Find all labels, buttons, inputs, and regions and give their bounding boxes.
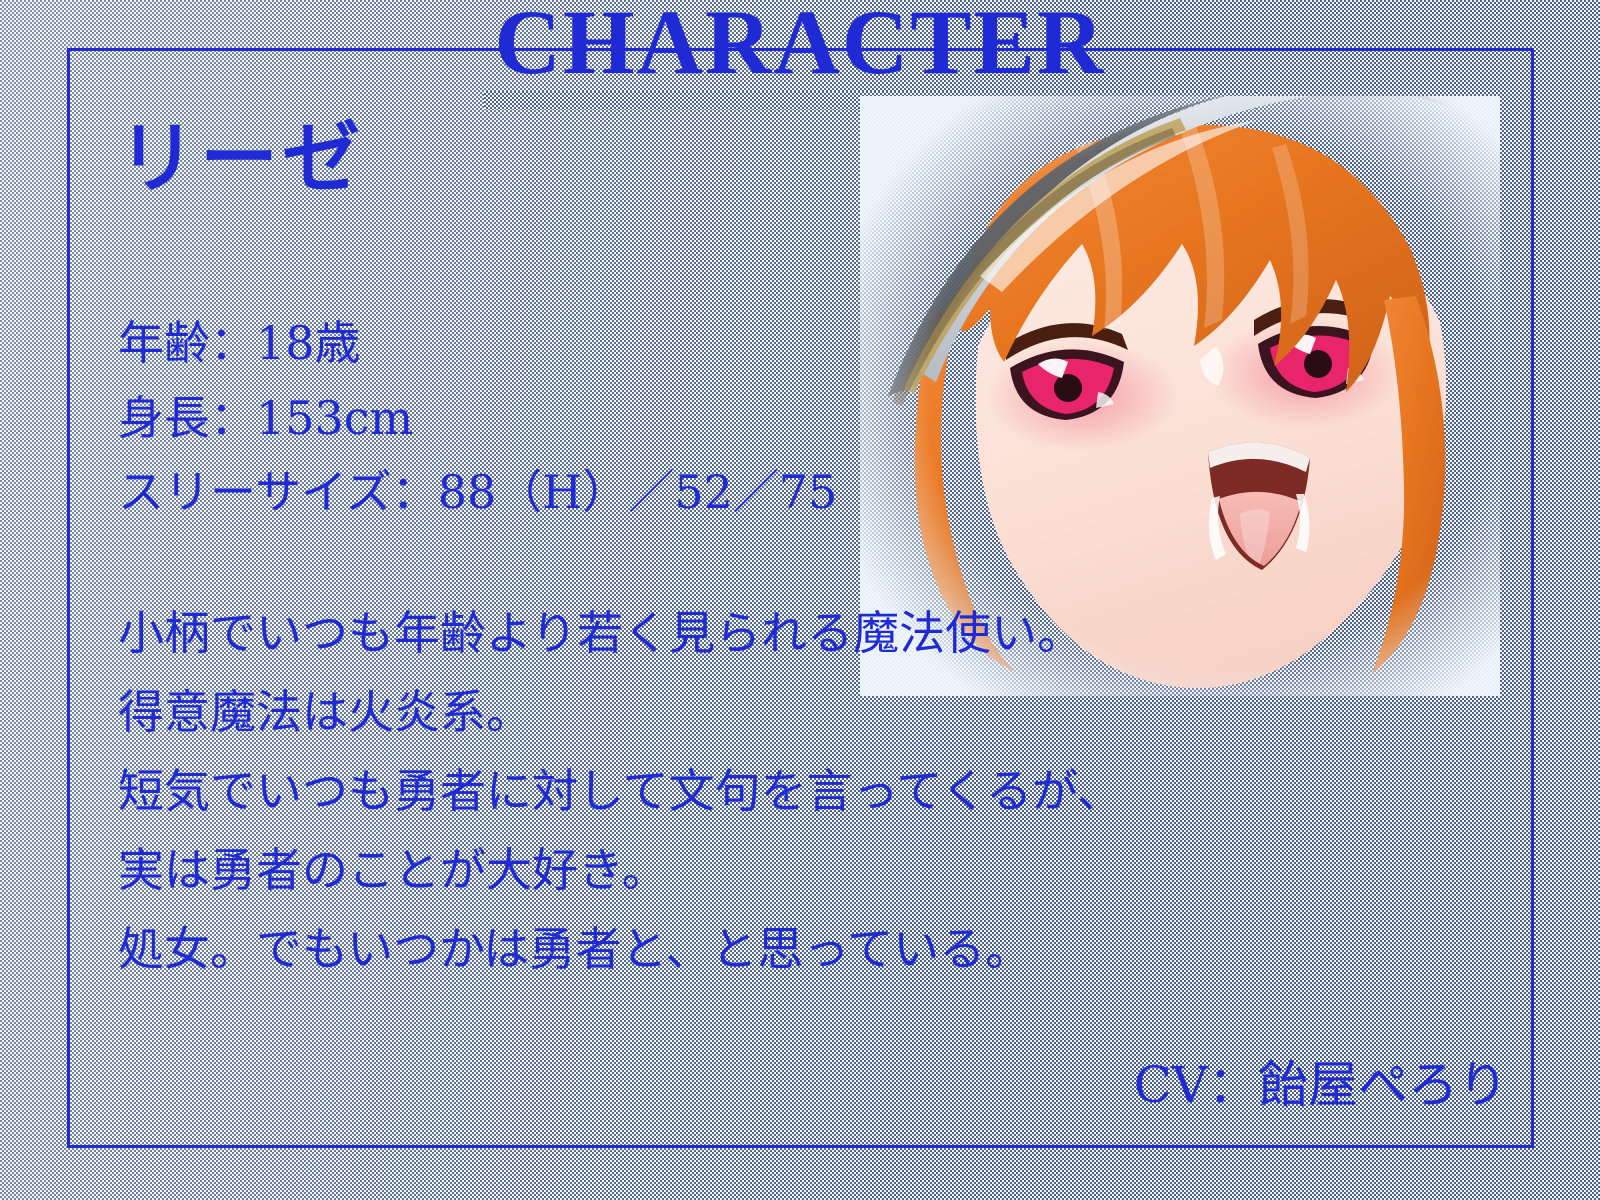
- character-description: 小柄でいつも年齢より若く見られる魔法使い。 得意魔法は火炎系。 短気でいつも勇者…: [118, 594, 1123, 990]
- stat-height: 身長：153cm: [118, 381, 1123, 456]
- page-title: CHARACTER: [0, 0, 1600, 91]
- voice-actor-credit: CV：飴屋ぺろり: [118, 1060, 1508, 1110]
- stat-measurements: スリーサイズ：88（H）／52／75: [118, 455, 1123, 530]
- description-line-5: 処女。でもいつかは勇者と、と思っている。: [118, 910, 1123, 989]
- description-line-4: 実は勇者のことが大好き。: [118, 831, 1123, 910]
- description-line-2: 得意魔法は火炎系。: [118, 673, 1123, 752]
- description-line-3: 短気でいつも勇者に対して文句を言ってくるが、: [118, 752, 1123, 831]
- character-name: リーゼ: [118, 120, 1123, 198]
- character-info: リーゼ 年齢：18歳 身長：153cm スリーサイズ：88（H）／52／75 小…: [118, 120, 1123, 989]
- stat-age: 年齢：18歳: [118, 306, 1123, 381]
- description-line-1: 小柄でいつも年齢より若く見られる魔法使い。: [118, 594, 1123, 673]
- character-profile-card: CHARACTER リーゼ 年齢：18歳 身長：153cm スリーサイズ：88（…: [0, 0, 1600, 1200]
- character-stats: 年齢：18歳 身長：153cm スリーサイズ：88（H）／52／75: [118, 306, 1123, 530]
